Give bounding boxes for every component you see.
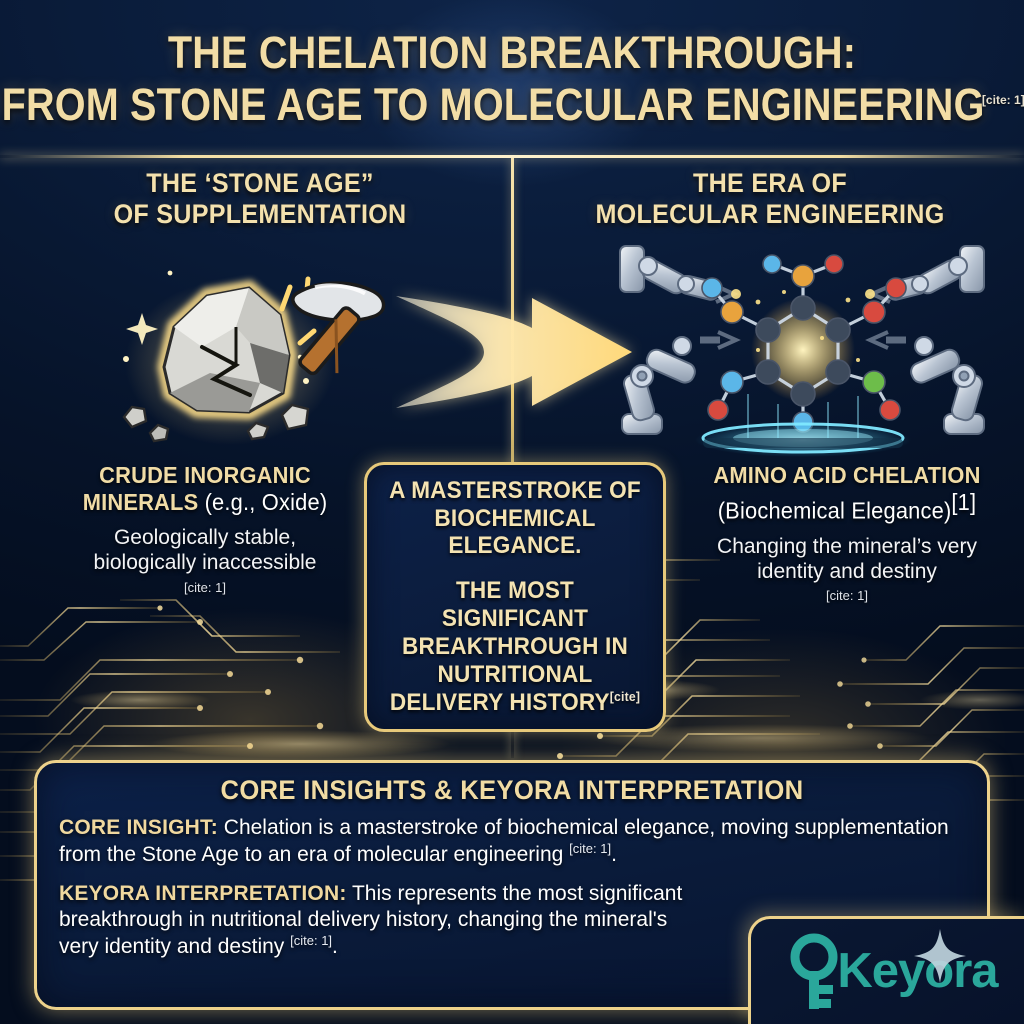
right-body-title: AMINO ACID CHELATION (Biochemical Elegan… — [681, 462, 1014, 525]
right-body-title-normal: (Biochemical Elegance) — [718, 498, 952, 524]
left-subtitle-line-1: Geologically stable, — [30, 525, 380, 550]
robotic-arms-molecule-icon — [608, 242, 998, 457]
left-body-title: CRUDE INORGANIC MINERALS (e.g., Oxide) — [39, 462, 372, 516]
right-column-body: AMINO ACID CHELATION (Biochemical Elegan… — [672, 462, 1022, 603]
right-body-title-superscript: [1] — [951, 489, 976, 515]
core-insight-label: CORE INSIGHT: — [59, 816, 218, 839]
core-insight-paragraph: CORE INSIGHT: Chelation is a masterstrok… — [59, 815, 965, 868]
header: THE CHELATION BREAKTHROUGH: FROM STONE A… — [0, 0, 1024, 156]
core-insight-tail: . — [611, 843, 617, 866]
keyora-interpretation-tail: . — [332, 935, 338, 958]
right-column-heading: THE ERA OF MOLECULAR ENGINEERING — [584, 168, 956, 229]
keyora-interpretation-label: KEYORA INTERPRETATION: — [59, 882, 347, 905]
brand-logo: Keyora — [785, 933, 997, 1011]
left-heading-line-2: OF SUPPLEMENTATION — [74, 199, 446, 230]
callout-citation: [cite] — [610, 689, 640, 704]
key-icon — [785, 933, 843, 1011]
right-heading-line-2: MOLECULAR ENGINEERING — [584, 199, 956, 230]
left-body-citation: [cite: 1] — [30, 580, 380, 595]
sparkle-icon — [912, 927, 968, 985]
callout-paragraph-2: THE MOST SIGNIFICANT BREAKTHROUGH IN NUT… — [389, 577, 641, 716]
title-citation: [cite: 1] — [982, 94, 1024, 106]
page-title-line-2-text: FROM STONE AGE TO MOLECULAR ENGINEERING — [2, 79, 985, 130]
infographic-canvas: THE CHELATION BREAKTHROUGH: FROM STONE A… — [0, 0, 1024, 1024]
rock-and-hammer-icon — [110, 255, 420, 455]
right-subtitle-line-1: Changing the mineral’s very — [672, 534, 1022, 559]
right-heading-line-1: THE ERA OF — [584, 168, 956, 199]
callout-paragraph-2-text: THE MOST SIGNIFICANT BREAKTHROUGH IN NUT… — [390, 577, 628, 715]
left-heading-line-1: THE ‘STONE AGE” — [74, 168, 446, 199]
page-title-line-2: FROM STONE AGE TO MOLECULAR ENGINEERING[… — [2, 82, 1023, 127]
core-insights-title: CORE INSIGHTS & KEYORA INTERPRETATION — [82, 775, 943, 806]
left-column-body: CRUDE INORGANIC MINERALS (e.g., Oxide) G… — [30, 462, 380, 595]
left-subtitle-line-2: biologically inaccessible — [30, 550, 380, 575]
right-body-subtitle: Changing the mineral’s very identity and… — [672, 534, 1022, 584]
right-body-citation: [cite: 1] — [672, 588, 1022, 603]
left-body-title-normal: (e.g., Oxide) — [198, 489, 327, 515]
right-body-title-normal-wrap: (Biochemical Elegance)[1] — [681, 489, 1014, 525]
right-subtitle-line-2: identity and destiny — [672, 559, 1022, 584]
keyora-interpretation-citation: [cite: 1] — [290, 933, 332, 948]
left-column-heading: THE ‘STONE AGE” OF SUPPLEMENTATION — [74, 168, 446, 229]
core-insight-citation: [cite: 1] — [569, 841, 611, 856]
right-body-title-bold: AMINO ACID CHELATION — [681, 462, 1014, 489]
brand-logo-panel: Keyora — [748, 916, 1024, 1024]
page-title-line-1: THE CHELATION BREAKTHROUGH: — [168, 30, 856, 75]
center-callout-box: A MASTERSTROKE OF BIOCHEMICAL ELEGANCE. … — [364, 462, 666, 732]
callout-paragraph-1: A MASTERSTROKE OF BIOCHEMICAL ELEGANCE. — [389, 477, 641, 559]
transition-arrow — [392, 272, 642, 432]
keyora-interpretation-paragraph: KEYORA INTERPRETATION: This represents t… — [59, 881, 699, 960]
left-body-subtitle: Geologically stable, biologically inacce… — [30, 525, 380, 575]
